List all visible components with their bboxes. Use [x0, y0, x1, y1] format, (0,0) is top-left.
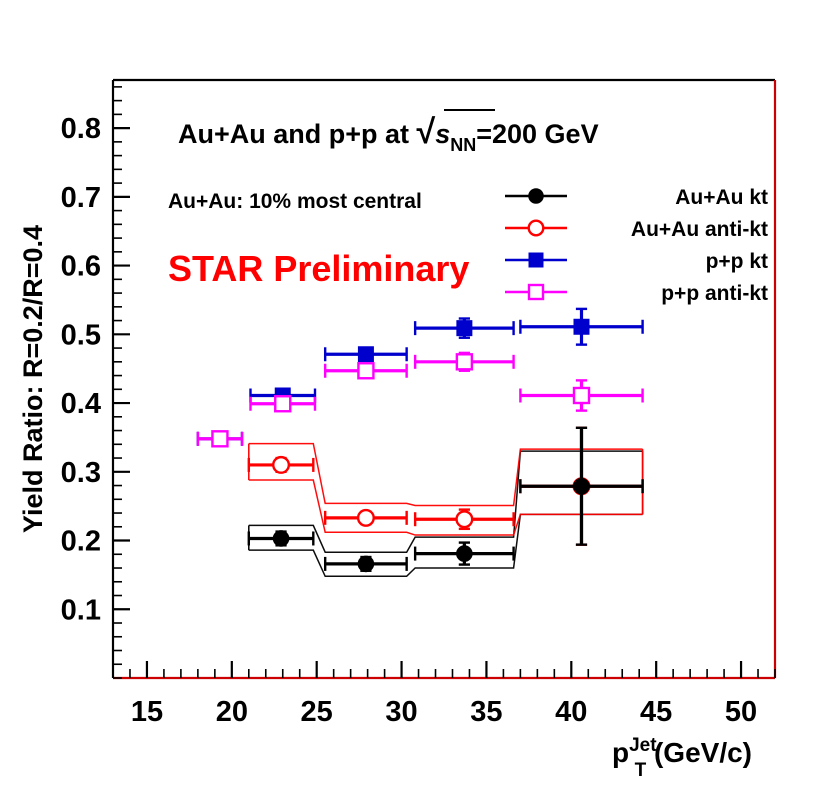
- x-tick-label: 45: [640, 696, 672, 728]
- x-axis-title: pJetT (GeV/c): [612, 735, 752, 781]
- physics-scatter-plot: 15202530354045500.10.20.30.40.50.60.70.8…: [0, 0, 830, 804]
- legend-marker-filled-circle: [529, 189, 544, 204]
- data-point-filled-square: [457, 321, 472, 336]
- y-tick-label: 0.7: [61, 182, 101, 214]
- plot-title: Au+Au and p+p at √sNN=200 GeV: [178, 113, 599, 155]
- legend-label-3: p+p anti-kt: [661, 282, 768, 305]
- data-point-open-square: [574, 388, 589, 403]
- centrality-annotation: Au+Au: 10% most central: [168, 190, 422, 213]
- x-tick-label: 40: [555, 696, 587, 728]
- data-point-filled-circle: [457, 546, 473, 562]
- legend-label-2: p+p kt: [706, 250, 768, 273]
- legend-marker-open-square: [529, 285, 543, 299]
- data-point-open-circle: [457, 511, 473, 527]
- data-point-open-square: [212, 431, 227, 446]
- y-tick-label: 0.4: [61, 388, 101, 420]
- data-point-open-square: [457, 354, 472, 369]
- legend-marker-filled-square: [529, 253, 543, 267]
- x-tick-label: 50: [725, 696, 757, 728]
- data-point-open-circle: [358, 510, 374, 526]
- data-point-open-circle: [273, 457, 289, 473]
- x-tick-label: 30: [385, 696, 417, 728]
- x-tick-label: 25: [301, 696, 333, 728]
- plot-background: [113, 80, 775, 678]
- data-point-filled-circle: [574, 478, 590, 494]
- y-tick-label: 0.1: [61, 594, 101, 626]
- preliminary-annotation: STAR Preliminary: [168, 248, 469, 289]
- x-tick-label: 35: [470, 696, 502, 728]
- x-tick-label: 20: [216, 696, 248, 728]
- data-point-filled-square: [574, 319, 589, 334]
- y-tick-label: 0.2: [61, 526, 101, 558]
- x-tick-label: 15: [131, 696, 163, 728]
- legend-label-1: Au+Au anti-kt: [631, 218, 768, 241]
- y-tick-label: 0.5: [61, 319, 101, 351]
- data-point-open-square: [358, 363, 373, 378]
- y-tick-label: 0.8: [61, 113, 101, 145]
- y-tick-label: 0.6: [61, 251, 101, 283]
- y-tick-label: 0.3: [61, 457, 101, 489]
- data-point-filled-circle: [273, 531, 289, 547]
- data-point-filled-square: [358, 347, 373, 362]
- figure-canvas: 15202530354045500.10.20.30.40.50.60.70.8…: [0, 0, 830, 804]
- legend-marker-open-circle: [529, 221, 544, 236]
- data-point-open-square: [275, 396, 290, 411]
- data-point-filled-circle: [358, 556, 374, 572]
- legend-label-0: Au+Au kt: [675, 186, 768, 209]
- y-axis-title: Yield Ratio: R=0.2/R=0.4: [18, 225, 48, 533]
